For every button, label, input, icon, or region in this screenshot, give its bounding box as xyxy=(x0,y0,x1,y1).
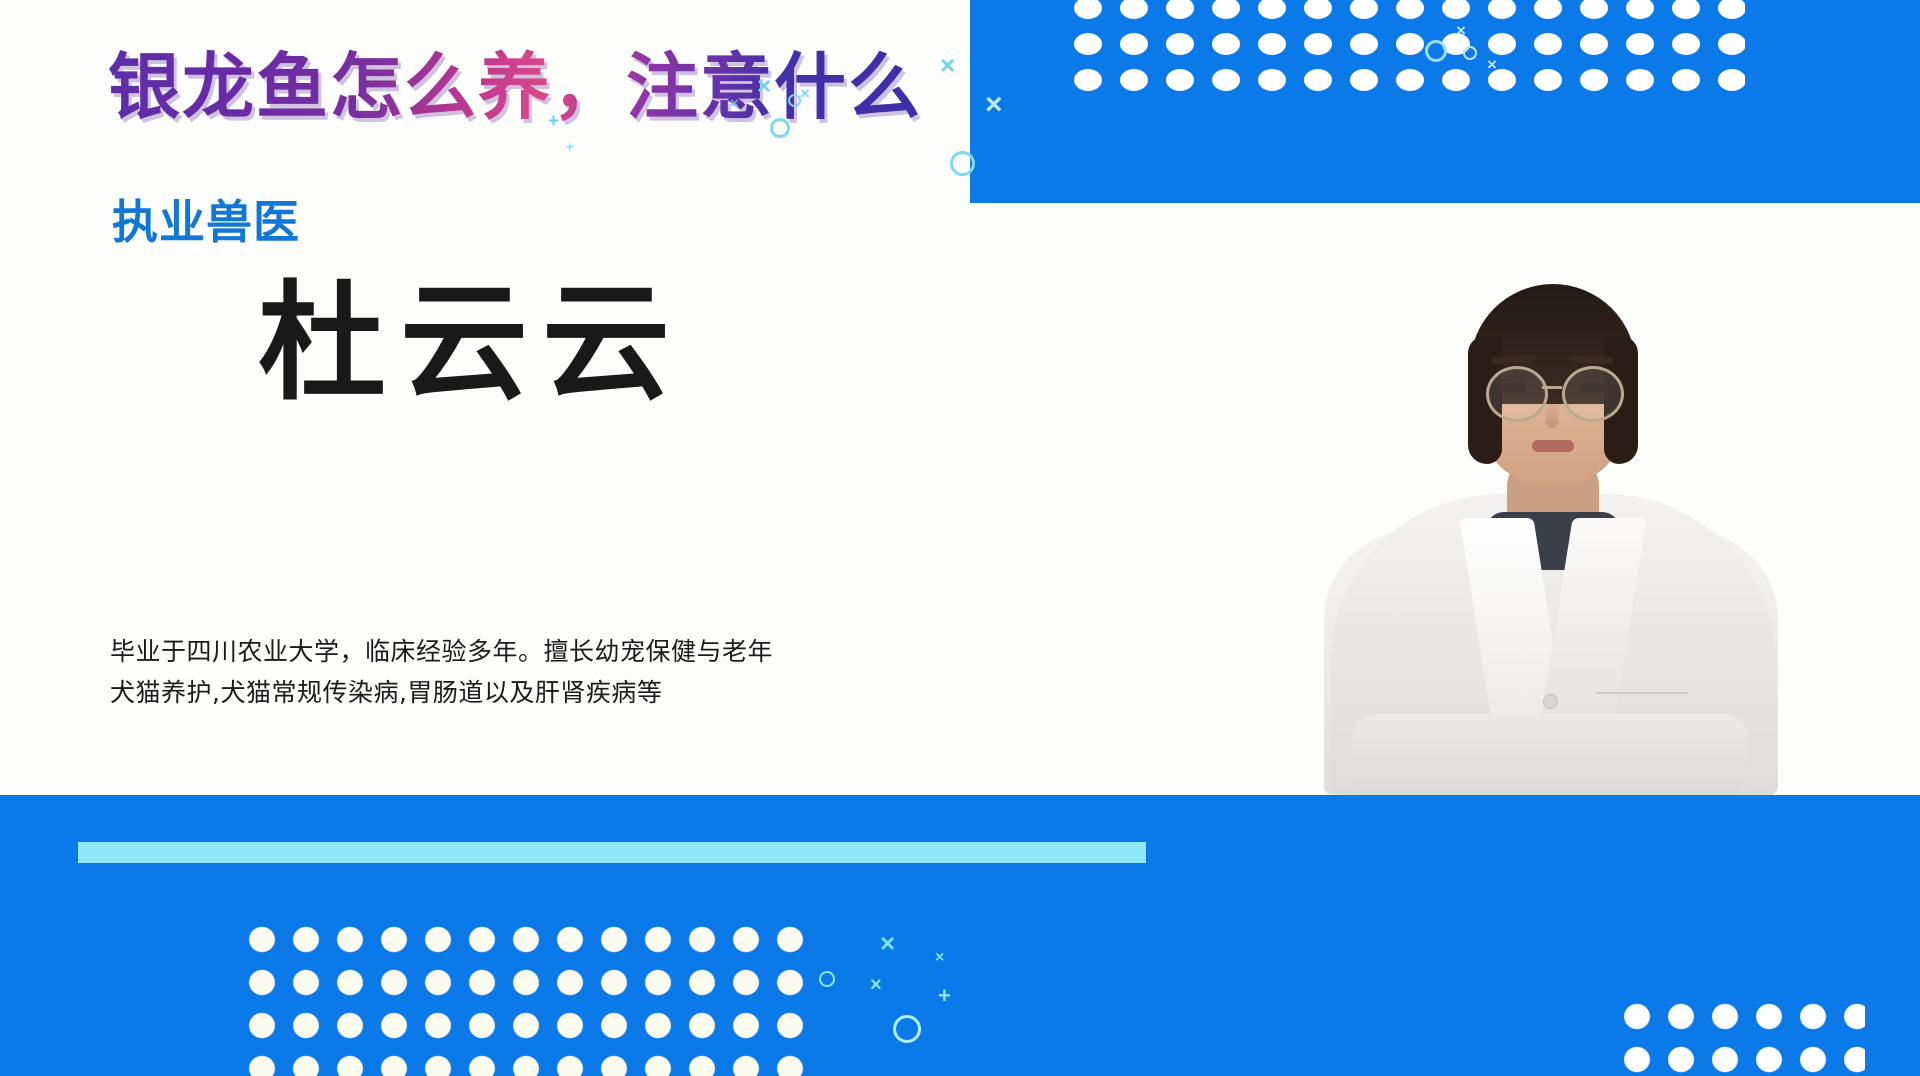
speaker-bio-line-1: 毕业于四川农业大学，临床经验多年。擅长幼宠保健与老年 xyxy=(110,632,830,673)
cross-decor-icon-1: × xyxy=(940,52,955,78)
top-right-dot-pattern xyxy=(1065,0,1745,95)
plus-decor-icon-1: + xyxy=(548,112,559,131)
glasses-bridge-icon xyxy=(1542,386,1562,389)
speaker-portrait-photo xyxy=(1300,262,1800,795)
portrait-coat-button xyxy=(1543,694,1558,709)
speaker-bio: 毕业于四川农业大学，临床经验多年。擅长幼宠保健与老年 犬猫养护,犬猫常规传染病,… xyxy=(110,632,830,713)
page-title: 银龙鱼怎么养，注意什么 xyxy=(108,28,922,133)
speaker-name: 杜云云 xyxy=(258,272,684,415)
speaker-bio-line-2: 犬猫养护,犬猫常规传染病,胃肠道以及肝肾疾病等 xyxy=(110,673,830,714)
circle-decor-icon-6 xyxy=(819,971,835,987)
circle-decor-icon-1 xyxy=(770,118,790,138)
plus-decor-icon-3: + xyxy=(938,985,951,1007)
circle-decor-icon-4 xyxy=(1463,46,1477,60)
portrait-mouth xyxy=(1532,440,1574,452)
cross-decor-icon-6: × xyxy=(1456,22,1466,39)
cross-decor-icon-3: × xyxy=(800,85,810,102)
cross-decor-icon-7: × xyxy=(1487,56,1497,73)
circle-decor-icon-7 xyxy=(893,1015,921,1043)
presentation-slide: 银龙鱼怎么养，注意什么 + + × × × × × × × 执业兽医 杜云云 毕… xyxy=(0,0,1920,1076)
portrait-arms xyxy=(1352,714,1748,795)
cross-decor-icon-2: × xyxy=(757,75,771,99)
glasses-lens-right-icon xyxy=(1562,366,1624,422)
role-subtitle: 执业兽医 xyxy=(112,186,300,252)
bottom-right-dot-pattern xyxy=(1615,995,1865,1076)
cross-decor-icon-9: × xyxy=(935,950,944,966)
circle-decor-icon-5 xyxy=(950,151,975,176)
cross-decor-icon-8: × xyxy=(880,930,895,956)
cross-decor-icon-10: × xyxy=(870,975,882,995)
cross-decor-icon-5: × xyxy=(985,90,1003,120)
bottom-dot-pattern xyxy=(240,918,810,1076)
circle-decor-icon-3 xyxy=(1425,40,1447,62)
plus-decor-icon-2: + xyxy=(566,140,574,153)
portrait-coat-pocket xyxy=(1596,692,1688,694)
cross-decor-icon-4: × xyxy=(730,96,739,111)
portrait-nose xyxy=(1546,402,1558,428)
cyan-accent-bar xyxy=(78,842,1146,863)
circle-decor-icon-2 xyxy=(788,94,801,107)
glasses-lens-left-icon xyxy=(1486,366,1548,422)
